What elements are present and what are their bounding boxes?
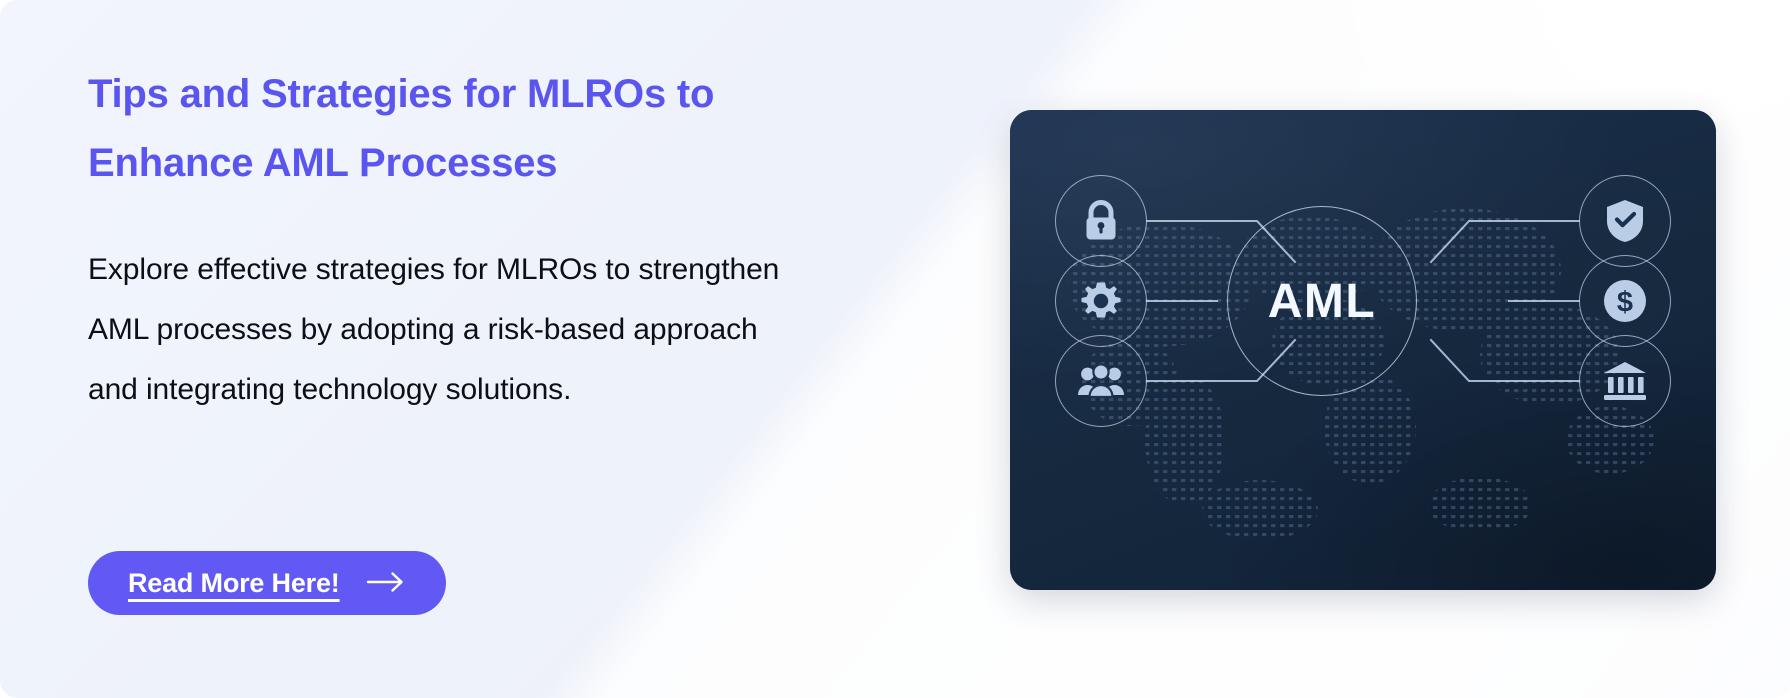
description-text: Explore effective strategies for MLROs t…	[88, 240, 938, 420]
svg-text:$: $	[1617, 287, 1633, 319]
people-icon	[1077, 363, 1125, 399]
node-gear[interactable]	[1055, 255, 1147, 347]
node-lock[interactable]	[1055, 175, 1147, 267]
bank-icon	[1602, 360, 1648, 402]
gear-icon	[1079, 279, 1123, 323]
read-more-button[interactable]: Read More Here!	[88, 551, 446, 615]
headline-line-2: Enhance AML Processes	[88, 129, 938, 198]
headline-line-1: Tips and Strategies for MLROs to	[88, 60, 938, 129]
description-line-1: Explore effective strategies for MLROs t…	[88, 240, 938, 300]
promo-banner: Tips and Strategies for MLROs to Enhance…	[0, 0, 1790, 698]
description-line-2: AML processes by adopting a risk-based a…	[88, 300, 938, 360]
read-more-label: Read More Here!	[128, 568, 340, 599]
aml-hub-label: AML	[1268, 274, 1376, 329]
node-bank[interactable]	[1579, 335, 1671, 427]
lock-icon	[1080, 199, 1122, 243]
description-line-3: and integrating technology solutions.	[88, 360, 938, 420]
aml-diagram-card: AML	[1010, 110, 1716, 590]
text-column: Tips and Strategies for MLROs to Enhance…	[88, 60, 938, 420]
aml-hub-node: AML	[1227, 206, 1417, 396]
shield-check-icon	[1604, 198, 1646, 244]
page-title: Tips and Strategies for MLROs to Enhance…	[88, 60, 938, 198]
node-money[interactable]: $	[1579, 255, 1671, 347]
node-shield[interactable]	[1579, 175, 1671, 267]
dollar-circle-icon: $	[1602, 278, 1648, 324]
node-people[interactable]	[1055, 335, 1147, 427]
arrow-right-icon	[366, 571, 406, 596]
